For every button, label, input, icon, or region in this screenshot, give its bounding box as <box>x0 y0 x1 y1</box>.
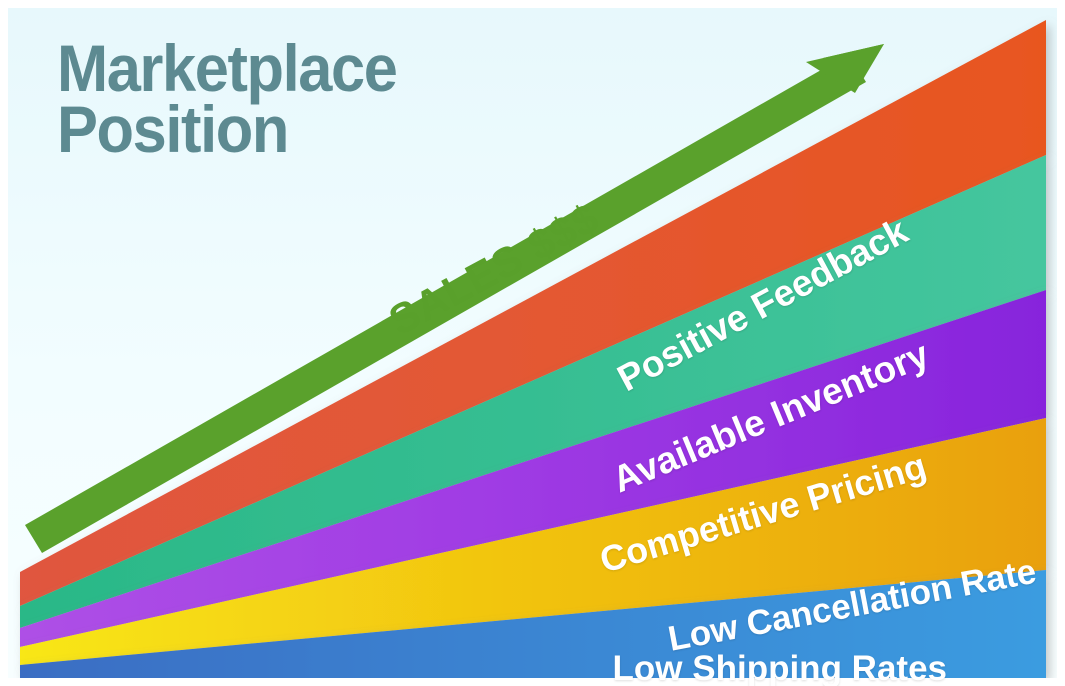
page-title-line-1: Marketplace <box>57 38 457 99</box>
marketplace-position-infographic: Marketplace Position SALES $$$ Positive … <box>0 0 1065 686</box>
page-title: Marketplace Position <box>57 38 487 159</box>
page-title-line-2: Position <box>57 99 457 160</box>
band-label-low-shipping-rates: Low Shipping Rates <box>613 649 947 686</box>
infographic-stage: Marketplace Position SALES $$$ Positive … <box>0 0 1065 686</box>
